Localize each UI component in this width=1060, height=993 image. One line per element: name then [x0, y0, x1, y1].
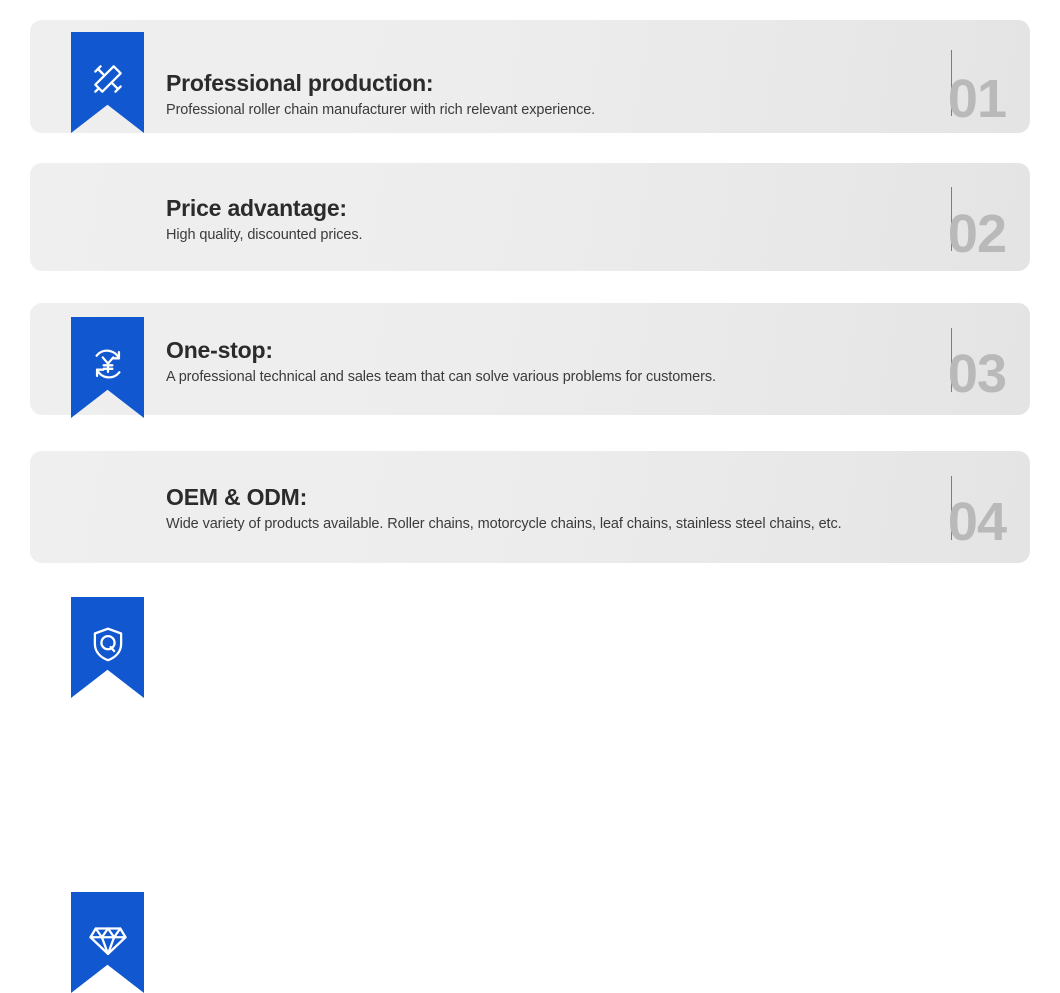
- quality-shield-icon: [87, 623, 129, 665]
- ribbon-badge-1: [71, 32, 144, 133]
- feature-card-3: One-stop: A professional technical and s…: [30, 303, 1030, 415]
- feature-title: One-stop:: [166, 337, 870, 364]
- features-board: Professional production: Professional ro…: [0, 0, 1060, 586]
- feature-card-2: Price advantage: High quality, discounte…: [30, 163, 1030, 271]
- feature-number: 04: [948, 495, 1006, 549]
- feature-text-2: Price advantage: High quality, discounte…: [166, 195, 870, 246]
- feature-title: Price advantage:: [166, 195, 870, 222]
- ribbon-badge-4: [71, 892, 144, 993]
- design-tools-icon: [87, 58, 129, 100]
- feature-text-3: One-stop: A professional technical and s…: [166, 337, 870, 388]
- feature-description: Wide variety of products available. Roll…: [166, 514, 870, 535]
- feature-number: 01: [948, 72, 1006, 126]
- feature-card-1: Professional production: Professional ro…: [30, 20, 1030, 133]
- ribbon-badge-3: [71, 597, 144, 698]
- feature-number: 02: [948, 207, 1006, 261]
- feature-description: High quality, discounted prices.: [166, 225, 870, 246]
- feature-description: Professional roller chain manufacturer w…: [166, 100, 870, 121]
- feature-text-1: Professional production: Professional ro…: [166, 70, 870, 121]
- feature-title: Professional production:: [166, 70, 870, 97]
- currency-exchange-icon: [87, 343, 129, 385]
- feature-number: 03: [948, 347, 1006, 401]
- feature-title: OEM & ODM:: [166, 484, 870, 511]
- feature-description: A professional technical and sales team …: [166, 367, 870, 388]
- diamond-icon: [87, 918, 129, 960]
- feature-text-4: OEM & ODM: Wide variety of products avai…: [166, 484, 870, 535]
- feature-card-4: OEM & ODM: Wide variety of products avai…: [30, 451, 1030, 563]
